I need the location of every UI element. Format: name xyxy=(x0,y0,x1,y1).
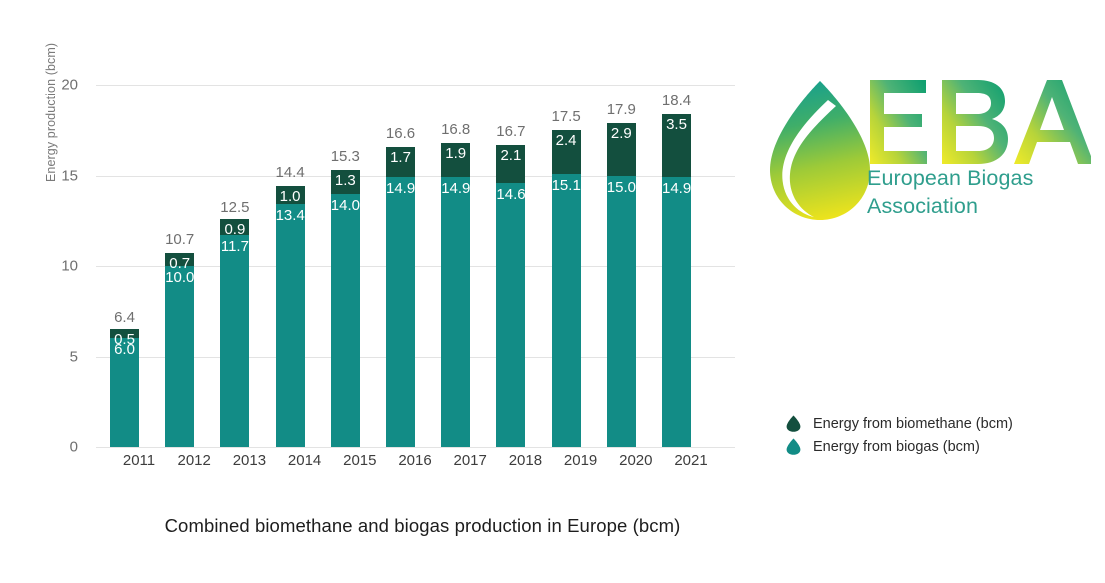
bar-value-biogas-2021: 14.9 xyxy=(662,181,691,196)
y-tick-label-20: 20 xyxy=(61,77,78,94)
bar-value-biogas-2015: 14.0 xyxy=(331,198,360,213)
x-tick-label-2013: 2013 xyxy=(219,452,279,469)
bar-total-2018: 16.7 xyxy=(488,123,533,140)
x-tick-label-2016: 2016 xyxy=(385,452,445,469)
bar-group-2021[interactable]: 14.93.518.4 xyxy=(662,114,691,447)
bar-segment-biomethane-2018[interactable]: 2.1 xyxy=(496,145,525,183)
bar-group-2020[interactable]: 15.02.917.9 xyxy=(607,123,636,447)
x-tick-label-2015: 2015 xyxy=(330,452,390,469)
x-axis-tick-labels: 2011201220132014201520162017201820192020… xyxy=(96,452,735,482)
bar-segment-biogas-2017[interactable]: 14.9 xyxy=(441,177,470,447)
bar-total-2021: 18.4 xyxy=(654,92,699,109)
x-tick-label-2014: 2014 xyxy=(275,452,335,469)
bar-value-biomethane-2021: 3.5 xyxy=(662,117,691,132)
legend-item-biomethane[interactable]: Energy from biomethane (bcm) xyxy=(786,412,1086,435)
bar-total-2013: 12.5 xyxy=(212,199,257,216)
bar-segment-biogas-2011[interactable]: 6.0 xyxy=(110,338,139,447)
bar-segment-biogas-2013[interactable]: 11.7 xyxy=(220,235,249,447)
bar-segment-biogas-2018[interactable]: 14.6 xyxy=(496,183,525,447)
gridline-0 xyxy=(96,447,735,448)
bar-value-biogas-2014: 13.4 xyxy=(276,208,305,223)
bar-value-biomethane-2012: 0.7 xyxy=(165,256,194,271)
x-tick-label-2019: 2019 xyxy=(551,452,611,469)
bar-value-biomethane-2011: 0.5 xyxy=(110,332,139,347)
bar-segment-biogas-2019[interactable]: 15.1 xyxy=(552,174,581,447)
bar-value-biomethane-2018: 2.1 xyxy=(496,148,525,163)
bar-group-2019[interactable]: 15.12.417.5 xyxy=(552,130,581,447)
x-tick-label-2020: 2020 xyxy=(606,452,666,469)
bar-group-2014[interactable]: 13.41.014.4 xyxy=(276,186,305,447)
bar-total-2016: 16.6 xyxy=(378,125,423,142)
bar-segment-biogas-2021[interactable]: 14.9 xyxy=(662,177,691,447)
eba-wordmark xyxy=(866,76,1091,168)
bar-segment-biomethane-2015[interactable]: 1.3 xyxy=(331,170,360,194)
y-tick-label-10: 10 xyxy=(61,258,78,275)
bar-segment-biogas-2012[interactable]: 10.0 xyxy=(165,266,194,447)
bar-segment-biomethane-2019[interactable]: 2.4 xyxy=(552,130,581,173)
bar-value-biogas-2017: 14.9 xyxy=(441,181,470,196)
eba-subtitle-line-1: European Biogas xyxy=(867,164,1097,192)
bar-segment-biomethane-2021[interactable]: 3.5 xyxy=(662,114,691,177)
legend-item-biogas[interactable]: Energy from biogas (bcm) xyxy=(786,435,1086,458)
bar-group-2012[interactable]: 10.00.710.7 xyxy=(165,253,194,447)
y-axis-tick-labels: 05101520 xyxy=(0,0,96,583)
bar-segment-biogas-2014[interactable]: 13.4 xyxy=(276,204,305,447)
bar-value-biomethane-2013: 0.9 xyxy=(220,222,249,237)
bar-total-2014: 14.4 xyxy=(268,164,313,181)
chart-legend: Energy from biomethane (bcm)Energy from … xyxy=(786,412,1086,458)
leaf-drop-icon xyxy=(786,438,801,455)
bar-group-2018[interactable]: 14.62.116.7 xyxy=(496,145,525,447)
eba-logo-subtitle: European Biogas Association xyxy=(867,164,1097,221)
bar-group-2013[interactable]: 11.70.912.5 xyxy=(220,221,249,447)
bar-value-biomethane-2014: 1.0 xyxy=(276,189,305,204)
legend-label: Energy from biogas (bcm) xyxy=(813,439,980,455)
bar-value-biogas-2016: 14.9 xyxy=(386,181,415,196)
bar-total-2012: 10.7 xyxy=(157,231,202,248)
bar-group-2017[interactable]: 14.91.916.8 xyxy=(441,143,470,447)
bar-segment-biomethane-2014[interactable]: 1.0 xyxy=(276,186,305,204)
plot-area: 6.00.56.410.00.710.711.70.912.513.41.014… xyxy=(96,85,735,447)
x-tick-label-2012: 2012 xyxy=(164,452,224,469)
bar-value-biomethane-2016: 1.7 xyxy=(386,150,415,165)
leaf-drop-icon xyxy=(786,415,801,432)
y-tick-label-5: 5 xyxy=(70,348,78,365)
bar-group-2016[interactable]: 14.91.716.6 xyxy=(386,147,415,447)
bar-segment-biomethane-2011[interactable]: 0.5 xyxy=(110,329,139,338)
bar-value-biogas-2020: 15.0 xyxy=(607,180,636,195)
bar-segment-biomethane-2012[interactable]: 0.7 xyxy=(165,253,194,266)
bar-segment-biogas-2015[interactable]: 14.0 xyxy=(331,194,360,447)
bar-total-2011: 6.4 xyxy=(102,309,147,326)
bar-value-biogas-2013: 11.7 xyxy=(220,239,249,254)
bar-value-biomethane-2015: 1.3 xyxy=(331,173,360,188)
bar-value-biogas-2012: 10.0 xyxy=(165,270,194,285)
x-tick-label-2011: 2011 xyxy=(109,452,169,469)
bar-value-biomethane-2017: 1.9 xyxy=(441,146,470,161)
bar-segment-biomethane-2020[interactable]: 2.9 xyxy=(607,123,636,175)
bar-segment-biogas-2016[interactable]: 14.9 xyxy=(386,177,415,447)
bars-layer: 6.00.56.410.00.710.711.70.912.513.41.014… xyxy=(96,85,735,447)
bar-segment-biomethane-2016[interactable]: 1.7 xyxy=(386,147,415,178)
bar-segment-biogas-2020[interactable]: 15.0 xyxy=(607,176,636,448)
bar-segment-biomethane-2013[interactable]: 0.9 xyxy=(220,219,249,235)
bar-value-biogas-2018: 14.6 xyxy=(496,187,525,202)
bar-total-2019: 17.5 xyxy=(544,108,589,125)
chart-figure: Energy production (bcm) 05101520 6.00.56… xyxy=(0,0,760,583)
bar-total-2015: 15.3 xyxy=(323,148,368,165)
eba-subtitle-line-2: Association xyxy=(867,192,1097,220)
bar-total-2017: 16.8 xyxy=(433,121,478,138)
bar-group-2015[interactable]: 14.01.315.3 xyxy=(331,170,360,447)
eba-logo: European Biogas Association xyxy=(766,78,1091,228)
bar-value-biogas-2019: 15.1 xyxy=(552,178,581,193)
bar-value-biomethane-2019: 2.4 xyxy=(552,133,581,148)
eba-leaf-icon xyxy=(766,78,874,223)
x-tick-label-2018: 2018 xyxy=(495,452,555,469)
bar-total-2020: 17.9 xyxy=(599,101,644,118)
y-tick-label-0: 0 xyxy=(70,439,78,456)
chart-title: Combined biomethane and biogas productio… xyxy=(0,515,845,537)
y-tick-label-15: 15 xyxy=(61,167,78,184)
legend-label: Energy from biomethane (bcm) xyxy=(813,416,1013,432)
x-tick-label-2021: 2021 xyxy=(661,452,721,469)
bar-group-2011[interactable]: 6.00.56.4 xyxy=(110,331,139,447)
bar-segment-biomethane-2017[interactable]: 1.9 xyxy=(441,143,470,177)
x-tick-label-2017: 2017 xyxy=(440,452,500,469)
bar-value-biomethane-2020: 2.9 xyxy=(607,126,636,141)
